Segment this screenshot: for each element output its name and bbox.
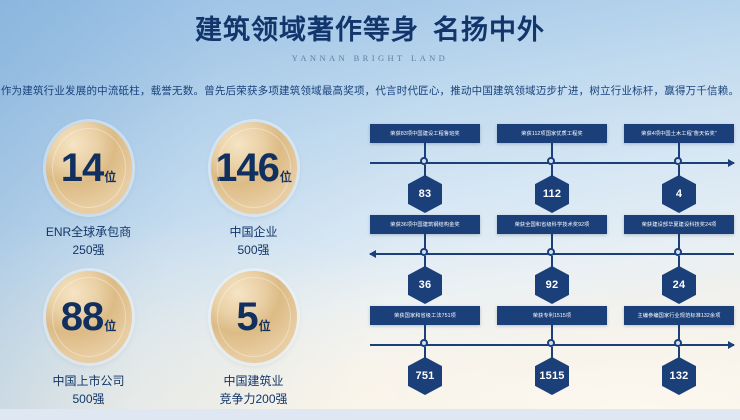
stat-caption-line1: ENR全球承包商 [6,223,171,241]
stat-caption: 中国上市公司500强 [6,372,171,408]
node-dot-icon [674,339,682,347]
award-count-badge: 112 [535,175,569,213]
stat-caption-line1: 中国上市公司 [6,372,171,390]
stats-grid: 14位ENR全球承包商250强146位中国企业500强88位中国上市公司500强… [6,122,336,420]
stat-caption-line2: 500强 [171,241,336,259]
award-label[interactable]: 荣获专利1515项 [497,306,607,325]
stat-card: 5位中国建筑业竞争力200强 [171,271,336,408]
stat-value: 14 [61,148,104,188]
node-dot-icon [420,157,428,165]
award-count-badge: 24 [662,266,696,304]
medal-inner: 5位 [236,297,270,337]
page-background: 建筑领域著作等身名扬中外 YANNAN BRIGHT LAND 作为建筑行业发展… [0,0,740,409]
medal-badge: 5位 [211,271,297,363]
timeline-row: 荣获国家和省级工法751项荣获专利1515项主编参编国家行业规范标准132余项7… [370,306,734,397]
award-count-badge: 4 [662,175,696,213]
stat-value: 5 [236,297,257,337]
page-header: 建筑领域著作等身名扬中外 YANNAN BRIGHT LAND [0,14,740,63]
stat-caption-line2: 250强 [6,241,171,259]
stat-card: 14位ENR全球承包商250强 [6,122,171,259]
award-label[interactable]: 荣获国家和省级工法751项 [370,306,480,325]
stat-caption: 中国建筑业竞争力200强 [171,372,336,408]
page-title: 建筑领域著作等身名扬中外 [0,14,740,46]
stat-unit: 位 [259,317,271,334]
stat-caption-line2: 500强 [6,390,171,408]
award-count-badge: 36 [408,266,442,304]
stat-caption-line1: 中国建筑业 [171,372,336,390]
award-count-badge: 92 [535,266,569,304]
stat-card: 146位中国企业500强 [171,122,336,259]
medal-badge: 14位 [46,122,132,214]
timeline-labels: 荣获36项中国建筑钢结构金奖荣获全国和省级科学技术奖92项荣获建设部华夏建设科技… [370,215,734,234]
page-title-part2: 名扬中外 [433,15,545,45]
node-dot-icon [420,248,428,256]
medal-inner: 14位 [61,148,117,188]
medal-badge: 146位 [211,122,297,214]
award-count-badge: 751 [408,357,442,395]
award-label[interactable]: 荣获全国和省级科学技术奖92项 [497,215,607,234]
timeline-row: 荣获83项中国建设工程鲁班奖荣获112项国家优质工程奖荣获4项中国土木工程“詹天… [370,124,734,215]
node-dot-icon [674,248,682,256]
stat-caption: 中国企业500强 [171,223,336,259]
stat-unit: 位 [104,168,116,185]
stat-unit: 位 [280,168,292,185]
award-label[interactable]: 主编参编国家行业规范标准132余项 [624,306,734,325]
stat-value: 88 [61,297,104,337]
node-dot-icon [674,157,682,165]
timeline-labels: 荣获83项中国建设工程鲁班奖荣获112项国家优质工程奖荣获4项中国土木工程“詹天… [370,124,734,143]
timeline-row: 荣获36项中国建筑钢结构金奖荣获全国和省级科学技术奖92项荣获建设部华夏建设科技… [370,215,734,306]
node-dot-icon [547,248,555,256]
medal-inner: 88位 [61,297,117,337]
award-count-badge: 83 [408,175,442,213]
award-label[interactable]: 荣获4项中国土木工程“詹天佑奖” [624,124,734,143]
page-subtitle: YANNAN BRIGHT LAND [0,53,740,63]
node-dot-icon [420,339,428,347]
award-count-badge: 1515 [535,357,569,395]
award-label[interactable]: 荣获83项中国建设工程鲁班奖 [370,124,480,143]
medal-inner: 146位 [215,148,292,188]
stat-value: 146 [215,148,279,188]
intro-paragraph: 作为建筑行业发展的中流砥柱，载誉无数。曾先后荣获多项建筑领域最高奖项，代言时代匠… [0,83,740,98]
award-label[interactable]: 荣获36项中国建筑钢结构金奖 [370,215,480,234]
medal-badge: 88位 [46,271,132,363]
timeline-labels: 荣获国家和省级工法751项荣获专利1515项主编参编国家行业规范标准132余项 [370,306,734,325]
awards-timeline: 荣获83项中国建设工程鲁班奖荣获112项国家优质工程奖荣获4项中国土木工程“詹天… [370,124,734,397]
stat-caption: ENR全球承包商250强 [6,223,171,259]
award-count-badge: 132 [662,357,696,395]
stat-caption-line2: 竞争力200强 [171,390,336,408]
award-label[interactable]: 荣获112项国家优质工程奖 [497,124,607,143]
node-dot-icon [547,339,555,347]
node-dot-icon [547,157,555,165]
page-title-part1: 建筑领域著作等身 [195,15,419,45]
stat-caption-line1: 中国企业 [171,223,336,241]
stat-card: 88位中国上市公司500强 [6,271,171,408]
award-label[interactable]: 荣获建设部华夏建设科技奖24项 [624,215,734,234]
stat-unit: 位 [104,317,116,334]
